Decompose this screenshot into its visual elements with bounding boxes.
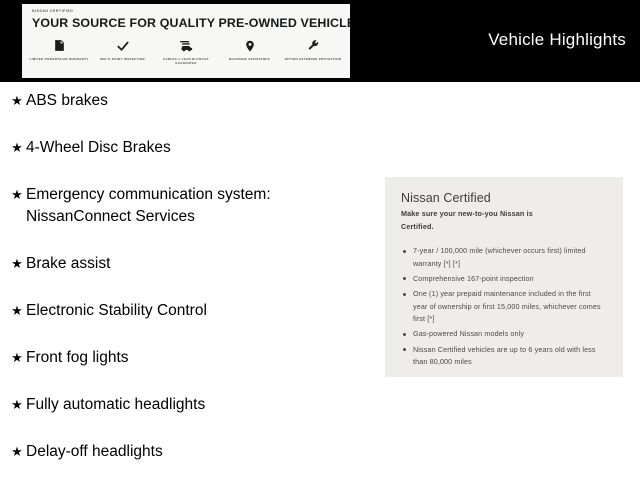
list-item: ★ ABS brakes — [8, 90, 368, 112]
wrench-icon — [307, 38, 320, 53]
list-item: ★ Electronic Stability Control — [8, 300, 368, 322]
car-icon — [179, 38, 194, 53]
star-bullet-icon: ★ — [8, 441, 26, 463]
document-warranty-icon — [53, 38, 66, 53]
star-bullet-icon: ★ — [8, 137, 26, 159]
highlight-label: Front fog lights — [26, 347, 129, 369]
banner-feature-caption: ROADSIDE ASSISTANCE — [229, 57, 270, 61]
page-title: Vehicle Highlights — [488, 30, 626, 50]
banner-feature-caption: MULTI-POINT INSPECTION — [100, 57, 145, 61]
banner-feature-caption: CARFAX 1-YEAR BUYBACK GUARANTEE — [155, 57, 217, 66]
list-item: ★ Brake assist — [8, 253, 368, 275]
list-item: ★ 4-Wheel Disc Brakes — [8, 137, 368, 159]
highlight-label: Brake assist — [26, 253, 110, 275]
banner-headline: YOUR SOURCE FOR QUALITY PRE-OWNED VEHICL… — [32, 16, 350, 30]
highlight-label: Delay-off headlights — [26, 441, 163, 463]
list-item: Comprehensive 167-point inspection — [401, 273, 607, 285]
list-item: One (1) year prepaid maintenance include… — [401, 288, 607, 325]
star-bullet-icon: ★ — [8, 300, 26, 322]
star-bullet-icon: ★ — [8, 347, 26, 369]
highlight-label: Fully automatic headlights — [26, 394, 205, 416]
banner-eyebrow-text: NISSAN CERTIFIED — [32, 9, 73, 13]
certified-pre-owned-banner: NISSAN CERTIFIED YOUR SOURCE FOR QUALITY… — [22, 4, 350, 78]
highlight-label: 4-Wheel Disc Brakes — [26, 137, 171, 159]
banner-feature-multi-point-inspection: MULTI-POINT INSPECTION — [92, 38, 154, 61]
nissan-certified-info-box: Nissan Certified Make sure your new-to-y… — [385, 177, 623, 377]
location-pin-icon — [244, 38, 256, 53]
list-item: 7-year / 100,000 mile (whichever occurs … — [401, 245, 607, 270]
highlight-label: Electronic Stability Control — [26, 300, 207, 322]
list-item: ★ Emergency communication system: Nissan… — [8, 184, 368, 228]
checkmark-icon — [116, 38, 130, 53]
banner-feature-carfax-buyback-guarantee: CARFAX 1-YEAR BUYBACK GUARANTEE — [155, 38, 217, 66]
banner-feature-caption: OPTION EXTENDED PROTECTION — [285, 57, 341, 61]
certified-title: Nissan Certified — [401, 191, 607, 205]
list-item: Nissan Certified vehicles are up to 6 ye… — [401, 344, 607, 369]
star-bullet-icon: ★ — [8, 253, 26, 275]
star-bullet-icon: ★ — [8, 394, 26, 416]
list-item: ★ Fully automatic headlights — [8, 394, 368, 416]
certified-subtitle: Make sure your new-to-you Nissan is Cert… — [401, 208, 551, 233]
banner-feature-caption: LIMITED POWERTRAIN WARRANTY — [29, 57, 88, 61]
highlight-label: Emergency communication system: NissanCo… — [26, 184, 368, 228]
list-item: ★ Front fog lights — [8, 347, 368, 369]
banner-feature-roadside-assistance: ROADSIDE ASSISTANCE — [219, 38, 281, 61]
vehicle-highlights-list: ★ ABS brakes ★ 4-Wheel Disc Brakes ★ Eme… — [8, 90, 368, 488]
list-item: ★ Delay-off headlights — [8, 441, 368, 463]
list-item: Gas-powered Nissan models only — [401, 328, 607, 340]
star-bullet-icon: ★ — [8, 90, 26, 112]
certified-benefits-list: 7-year / 100,000 mile (whichever occurs … — [401, 245, 607, 368]
highlight-label: ABS brakes — [26, 90, 108, 112]
banner-feature-row: LIMITED POWERTRAIN WARRANTY MULTI-POINT … — [28, 38, 344, 66]
banner-feature-option-extended-protection: OPTION EXTENDED PROTECTION — [282, 38, 344, 61]
banner-feature-limited-powertrain-warranty: LIMITED POWERTRAIN WARRANTY — [28, 38, 90, 61]
star-bullet-icon: ★ — [8, 184, 26, 206]
